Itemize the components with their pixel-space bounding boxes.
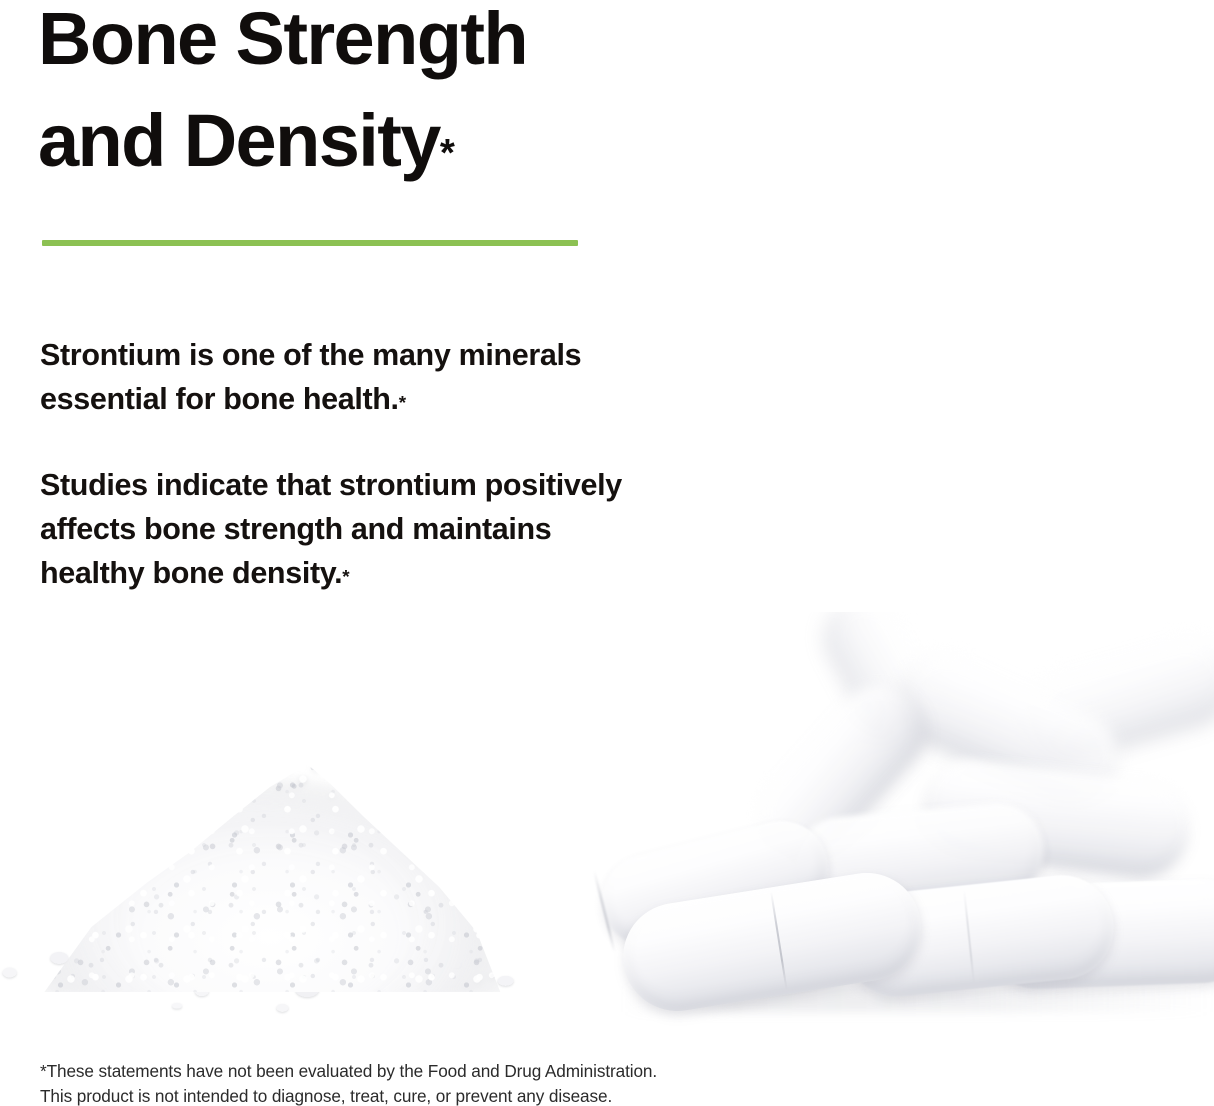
paragraph-text: Studies indicate that strontium positive… <box>40 468 622 590</box>
paragraph-strontium-minerals: Strontium is one of the many minerals es… <box>40 333 780 421</box>
product-imagery <box>0 612 1214 1042</box>
capsule-seam <box>963 889 975 984</box>
strontium-powder-photo <box>0 700 580 1030</box>
paragraph-text: Strontium is one of the many minerals es… <box>40 338 581 416</box>
page-title-asterisk: * <box>440 132 455 175</box>
capsule-seam <box>593 870 615 953</box>
white-capsules-photo <box>594 612 1214 1042</box>
powder-mound <box>35 742 505 992</box>
green-divider <box>42 240 578 246</box>
paragraph-asterisk: * <box>399 393 406 414</box>
product-info-panel: Bone Strength and Density* Strontium is … <box>0 0 1214 1106</box>
fda-disclaimer: *These statements have not been evaluate… <box>40 1059 840 1106</box>
paragraph-studies-indicate: Studies indicate that strontium positive… <box>40 463 780 595</box>
page-title: Bone Strength and Density* <box>38 0 798 192</box>
capsule-seam <box>770 892 788 990</box>
body-copy: Strontium is one of the many minerals es… <box>40 333 780 595</box>
paragraph-asterisk: * <box>342 567 349 588</box>
